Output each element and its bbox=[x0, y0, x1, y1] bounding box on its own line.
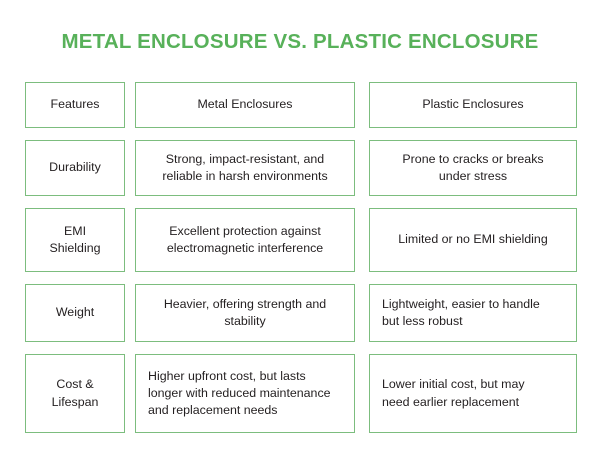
plastic-value: Lightweight, easier to handle but less r… bbox=[370, 292, 576, 334]
header-cell-plastic: Plastic Enclosures bbox=[369, 82, 577, 128]
metal-cell-weight: Heavier, offering strength and stability bbox=[135, 284, 355, 342]
plastic-cell-cost-lifespan: Lower initial cost, but may need earlier… bbox=[369, 354, 577, 433]
table-row: Durability Strong, impact-resistant, and… bbox=[25, 140, 577, 196]
feature-cell-cost-lifespan: Cost & Lifespan bbox=[25, 354, 125, 433]
comparison-slide: METAL ENCLOSURE VS. PLASTIC ENCLOSURE Fe… bbox=[0, 0, 600, 471]
metal-cell-cost-lifespan: Higher upfront cost, but lasts longer wi… bbox=[135, 354, 355, 433]
feature-label: EMI Shielding bbox=[26, 219, 124, 261]
plastic-value: Prone to cracks or breaks under stress bbox=[370, 147, 576, 189]
header-metal-label: Metal Enclosures bbox=[136, 92, 354, 117]
plastic-cell-durability: Prone to cracks or breaks under stress bbox=[369, 140, 577, 196]
metal-cell-emi-shielding: Excellent protection against electromagn… bbox=[135, 208, 355, 272]
plastic-value: Lower initial cost, but may need earlier… bbox=[370, 372, 576, 414]
feature-cell-weight: Weight bbox=[25, 284, 125, 342]
metal-value: Higher upfront cost, but lasts longer wi… bbox=[136, 364, 354, 423]
metal-cell-durability: Strong, impact-resistant, and reliable i… bbox=[135, 140, 355, 196]
header-cell-features: Features bbox=[25, 82, 125, 128]
table-row: Cost & Lifespan Higher upfront cost, but… bbox=[25, 354, 577, 433]
feature-label: Durability bbox=[26, 155, 124, 180]
plastic-value: Limited or no EMI shielding bbox=[370, 227, 576, 252]
comparison-table: Features Metal Enclosures Plastic Enclos… bbox=[25, 82, 577, 433]
header-plastic-label: Plastic Enclosures bbox=[370, 92, 576, 117]
page-title: METAL ENCLOSURE VS. PLASTIC ENCLOSURE bbox=[0, 30, 600, 54]
table-row: EMI Shielding Excellent protection again… bbox=[25, 208, 577, 272]
feature-cell-durability: Durability bbox=[25, 140, 125, 196]
feature-label: Cost & Lifespan bbox=[26, 372, 124, 414]
header-cell-metal: Metal Enclosures bbox=[135, 82, 355, 128]
metal-value: Heavier, offering strength and stability bbox=[136, 292, 354, 334]
header-features-label: Features bbox=[26, 92, 124, 117]
plastic-cell-weight: Lightweight, easier to handle but less r… bbox=[369, 284, 577, 342]
metal-value: Excellent protection against electromagn… bbox=[136, 219, 354, 261]
plastic-cell-emi-shielding: Limited or no EMI shielding bbox=[369, 208, 577, 272]
table-header-row: Features Metal Enclosures Plastic Enclos… bbox=[25, 82, 577, 128]
metal-value: Strong, impact-resistant, and reliable i… bbox=[136, 147, 354, 189]
feature-cell-emi-shielding: EMI Shielding bbox=[25, 208, 125, 272]
feature-label: Weight bbox=[26, 300, 124, 325]
table-row: Weight Heavier, offering strength and st… bbox=[25, 284, 577, 342]
